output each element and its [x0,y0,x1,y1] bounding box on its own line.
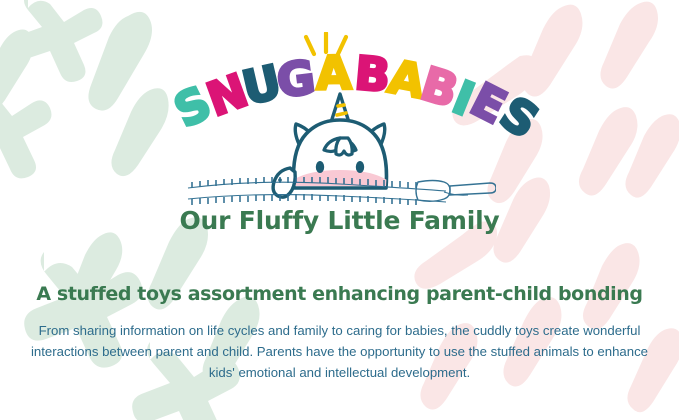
sparkle-icon [296,32,356,66]
tagline: Our Fluffy Little Family [0,206,679,235]
zipper-pull [450,183,496,195]
brand-logo: S N U G A B A B I E S [0,18,679,198]
body-paragraph: From sharing information on life cycles … [30,320,649,383]
promo-banner: S N U G A B A B I E S [0,0,679,420]
headline: A stuffed toys assortment enhancing pare… [0,283,679,305]
